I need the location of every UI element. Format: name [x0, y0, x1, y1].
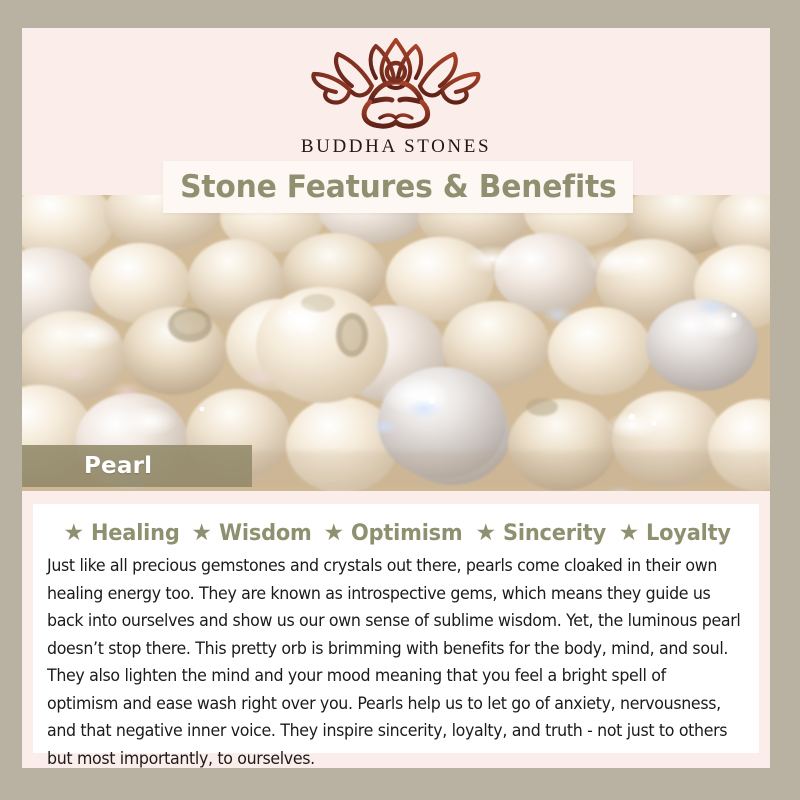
benefit-label: Optimism: [351, 521, 463, 546]
brand-name: BUDDHA STONES: [301, 136, 491, 158]
star-icon: ★: [191, 521, 212, 544]
stone-photo: Pearl: [22, 195, 770, 491]
benefit-label: Sincerity: [503, 521, 606, 546]
star-icon: ★: [323, 521, 344, 544]
benefit-label: Loyalty: [646, 521, 731, 546]
description-text: Just like all precious gemstones and cry…: [47, 552, 741, 768]
photo-underline: [22, 491, 770, 504]
poster: BUDDHA STONES Stone Features & Benefits: [0, 0, 800, 800]
benefit-label: Healing: [91, 521, 180, 546]
star-icon: ★: [476, 521, 497, 544]
star-icon: ★: [63, 521, 84, 544]
title-banner: Stone Features & Benefits: [163, 161, 633, 213]
benefit-label: Wisdom: [219, 521, 312, 546]
benefit-item: ★Optimism: [316, 521, 468, 546]
frame-border-top: [0, 0, 800, 28]
benefits-list: ★Healing★Wisdom★Optimism★Sincerity★Loyal…: [47, 516, 745, 550]
benefit-item: ★Healing: [56, 521, 184, 546]
frame-border-right: [770, 0, 800, 800]
page-surface: BUDDHA STONES Stone Features & Benefits: [22, 28, 770, 768]
benefit-item: ★Wisdom: [184, 521, 316, 546]
frame-border-left: [0, 0, 22, 800]
benefit-item: ★Loyalty: [612, 521, 736, 546]
brand-header: BUDDHA STONES: [22, 28, 770, 167]
content-card: ★Healing★Wisdom★Optimism★Sincerity★Loyal…: [33, 504, 759, 753]
page-title: Stone Features & Benefits: [180, 169, 616, 205]
benefit-item: ★Sincerity: [469, 521, 612, 546]
star-icon: ★: [619, 521, 640, 544]
lotus-meditation-icon: [301, 34, 491, 135]
stone-name-bar: Pearl: [22, 445, 252, 487]
stone-name: Pearl: [84, 453, 152, 479]
brand-logo: BUDDHA STONES: [301, 34, 491, 158]
